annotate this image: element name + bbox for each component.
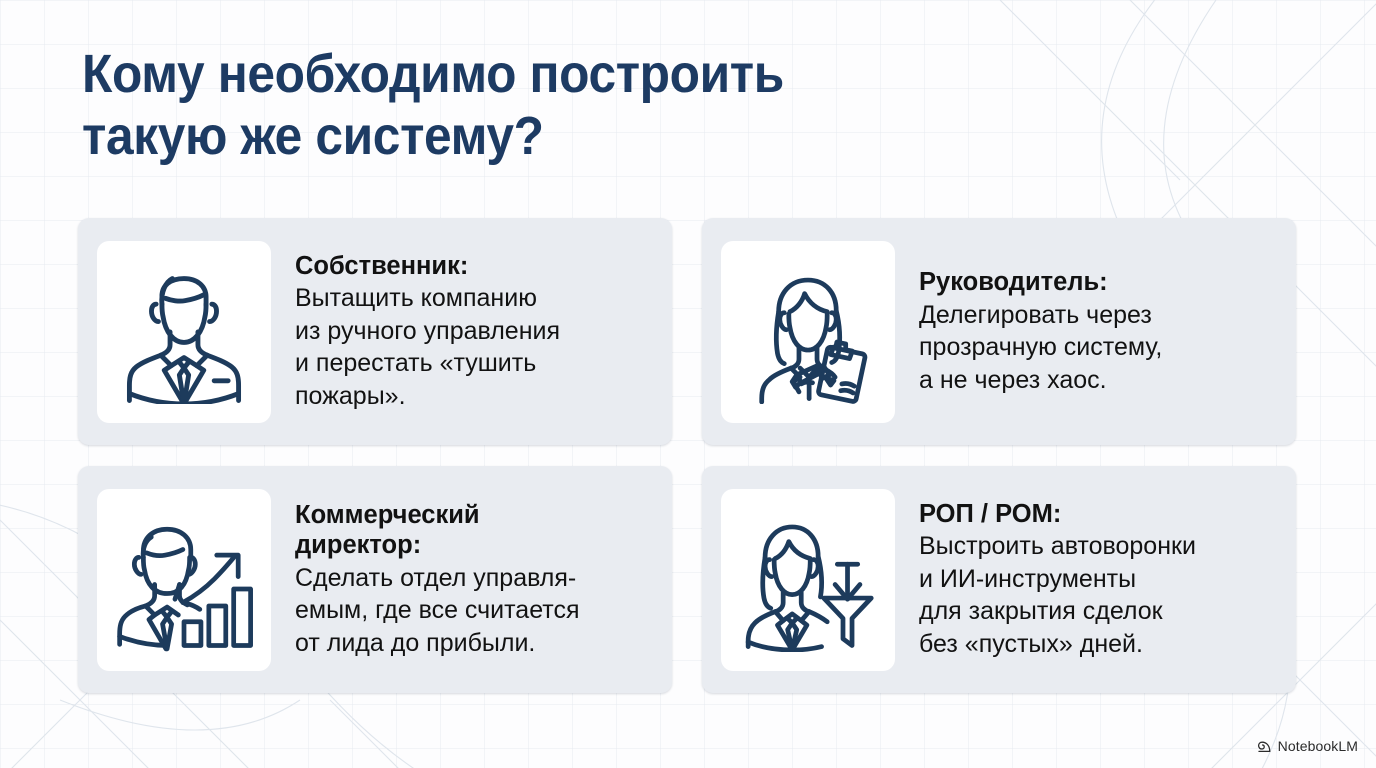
card-body: Вытащить компанию из ручного управления …	[295, 282, 658, 412]
card-commercial-director[interactable]: Коммерческий директор: Сделать отдел упр…	[78, 466, 672, 693]
woman-sales-funnel-icon	[738, 508, 878, 652]
card-rop-rom[interactable]: РОП / РОМ: Выстроить автоворонки и ИИ-ин…	[702, 466, 1296, 693]
card-body: Делегировать через прозрачную систему, а…	[919, 299, 1282, 397]
notebooklm-watermark: NotebookLM	[1257, 738, 1358, 754]
card-heading: Собственник:	[295, 251, 658, 282]
card-text: РОП / РОМ: Выстроить автоворонки и ИИ-ин…	[895, 499, 1296, 661]
icon-tile	[721, 241, 895, 423]
card-text: Собственник: Вытащить компанию из ручног…	[271, 251, 672, 413]
card-body: Сделать отдел управля- емым, где все счи…	[295, 562, 658, 660]
watermark-label: NotebookLM	[1278, 738, 1358, 754]
slide-canvas: Кому необходимо построить такую же систе…	[0, 0, 1376, 768]
woman-clipboard-icon	[738, 260, 878, 404]
businessman-suit-icon	[114, 260, 254, 404]
page-title: Кому необходимо построить такую же систе…	[82, 44, 910, 167]
card-heading: Руководитель:	[919, 267, 1282, 298]
card-grid: Собственник: Вытащить компанию из ручног…	[78, 218, 1296, 693]
card-heading: Коммерческий директор:	[295, 500, 658, 561]
icon-tile	[721, 489, 895, 671]
notebooklm-spiral-icon	[1257, 739, 1272, 754]
card-heading: РОП / РОМ:	[919, 499, 1282, 530]
businessman-growth-chart-icon	[114, 508, 254, 652]
icon-tile	[97, 241, 271, 423]
icon-tile	[97, 489, 271, 671]
card-text: Руководитель: Делегировать через прозрач…	[895, 267, 1296, 396]
card-body: Выстроить автоворонки и ИИ-инструменты д…	[919, 530, 1282, 660]
card-owner[interactable]: Собственник: Вытащить компанию из ручног…	[78, 218, 672, 445]
card-text: Коммерческий директор: Сделать отдел упр…	[271, 500, 672, 660]
card-manager[interactable]: Руководитель: Делегировать через прозрач…	[702, 218, 1296, 445]
